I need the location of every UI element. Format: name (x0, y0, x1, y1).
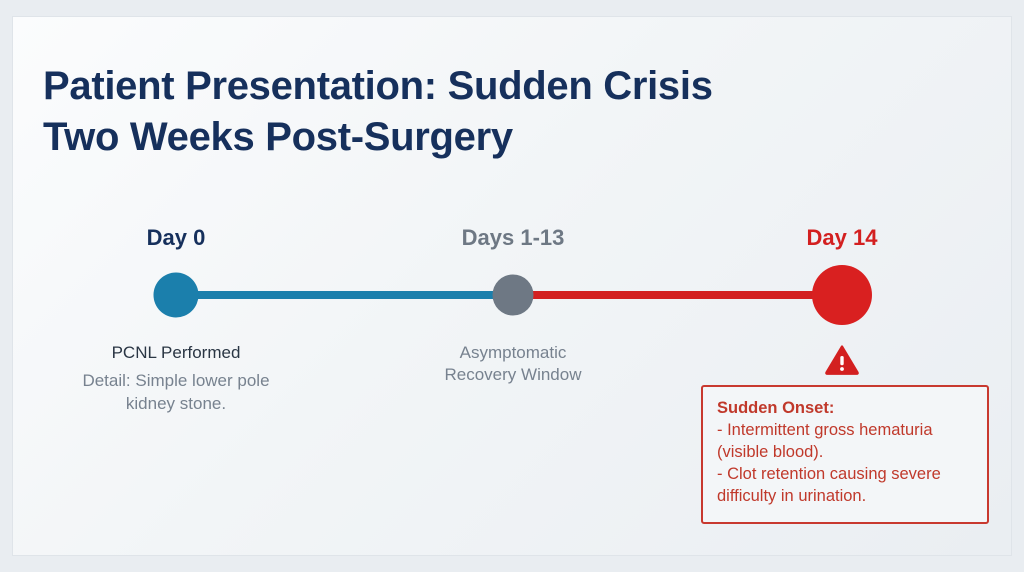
timeline-node-day-14[interactable] (812, 265, 872, 325)
caption-days-1-13-line-1: Asymptomatic (393, 342, 633, 364)
slide-canvas: Patient Presentation: Sudden Crisis Two … (12, 16, 1012, 556)
timeline-caption-day-0: PCNL Performed Detail: Simple lower pole… (41, 342, 311, 415)
timeline-label-day-14: Day 14 (807, 225, 878, 251)
timeline-segment-crisis (513, 291, 843, 299)
alert-heading: Sudden Onset: (717, 399, 973, 418)
caption-day-0-detail: Detail: Simple lower pole kidney stone. (61, 370, 291, 415)
timeline-node-days-1-13[interactable] (493, 275, 534, 316)
timeline-node-day-0[interactable] (154, 273, 199, 318)
timeline-label-day-0: Day 0 (147, 225, 206, 251)
timeline-caption-days-1-13: Asymptomatic Recovery Window (393, 342, 633, 387)
warning-triangle-icon (825, 345, 859, 375)
alert-box-sudden-onset: Sudden Onset: - Intermittent gross hemat… (701, 385, 989, 524)
timeline-segment-recovery-start (176, 291, 513, 299)
alert-item-hematuria: - Intermittent gross hematuria (visible … (717, 420, 973, 464)
caption-days-1-13-line-2: Recovery Window (393, 364, 633, 386)
timeline-label-days-1-13: Days 1-13 (462, 225, 565, 251)
caption-day-0-title: PCNL Performed (41, 342, 311, 364)
alert-item-clot-retention: - Clot retention causing severe difficul… (717, 464, 973, 508)
